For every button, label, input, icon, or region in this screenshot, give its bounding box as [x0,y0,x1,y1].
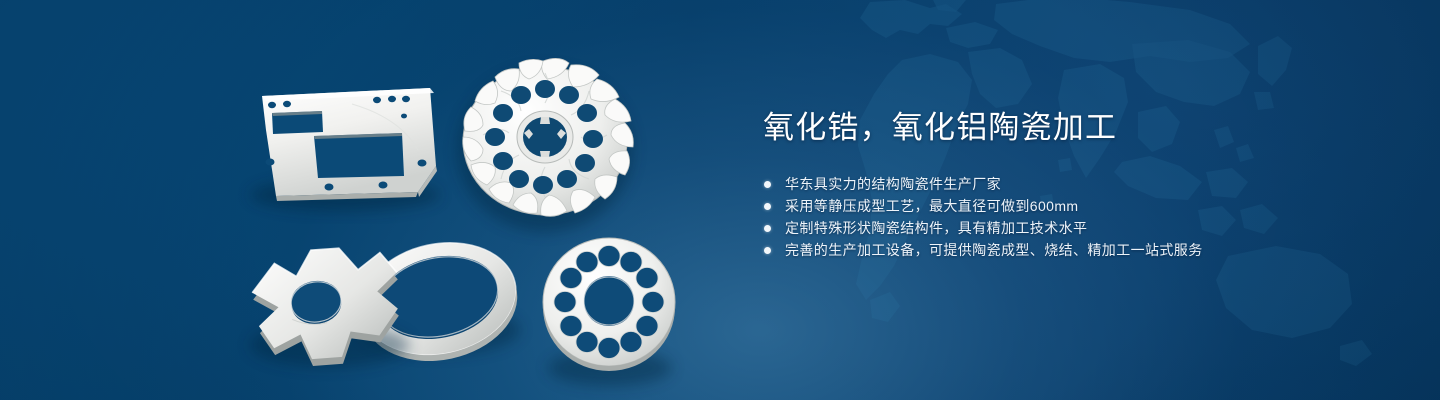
bullet-dot-icon [764,225,771,232]
list-item-label: 采用等静压成型工艺，最大直径可做到600mm [785,198,1078,214]
list-item: 采用等静压成型工艺，最大直径可做到600mm [763,195,1323,217]
banner-headline: 氧化锆，氧化铝陶瓷加工 [763,108,1323,148]
ceramic-cross-part [248,239,410,375]
product-photo-group [0,0,740,400]
ceramic-perforated-disc-part [543,238,675,386]
list-item-label: 完善的生产加工设备，可提供陶瓷成型、烧结、精加工一站式服务 [785,242,1203,258]
feature-list: 华东具实力的结构陶瓷件生产厂家 采用等静压成型工艺，最大直径可做到600mm 定… [763,173,1323,261]
list-item-label: 定制特殊形状陶瓷结构件，具有精加工技术水平 [785,220,1087,236]
bullet-dot-icon [764,247,771,254]
ceramic-impeller-part [457,58,633,232]
banner-text-column: 氧化锆，氧化铝陶瓷加工 华东具实力的结构陶瓷件生产厂家 采用等静压成型工艺，最大… [763,108,1323,261]
list-item: 定制特殊形状陶瓷结构件，具有精加工技术水平 [763,217,1323,239]
hero-banner: 氧化锆，氧化铝陶瓷加工 华东具实力的结构陶瓷件生产厂家 采用等静压成型工艺，最大… [0,0,1440,400]
ceramic-plate-part [250,88,440,211]
list-item: 完善的生产加工设备，可提供陶瓷成型、烧结、精加工一站式服务 [763,239,1323,261]
list-item-label: 华东具实力的结构陶瓷件生产厂家 [785,176,1001,192]
bullet-dot-icon [764,203,771,210]
list-item: 华东具实力的结构陶瓷件生产厂家 [763,173,1323,195]
bullet-dot-icon [764,181,771,188]
